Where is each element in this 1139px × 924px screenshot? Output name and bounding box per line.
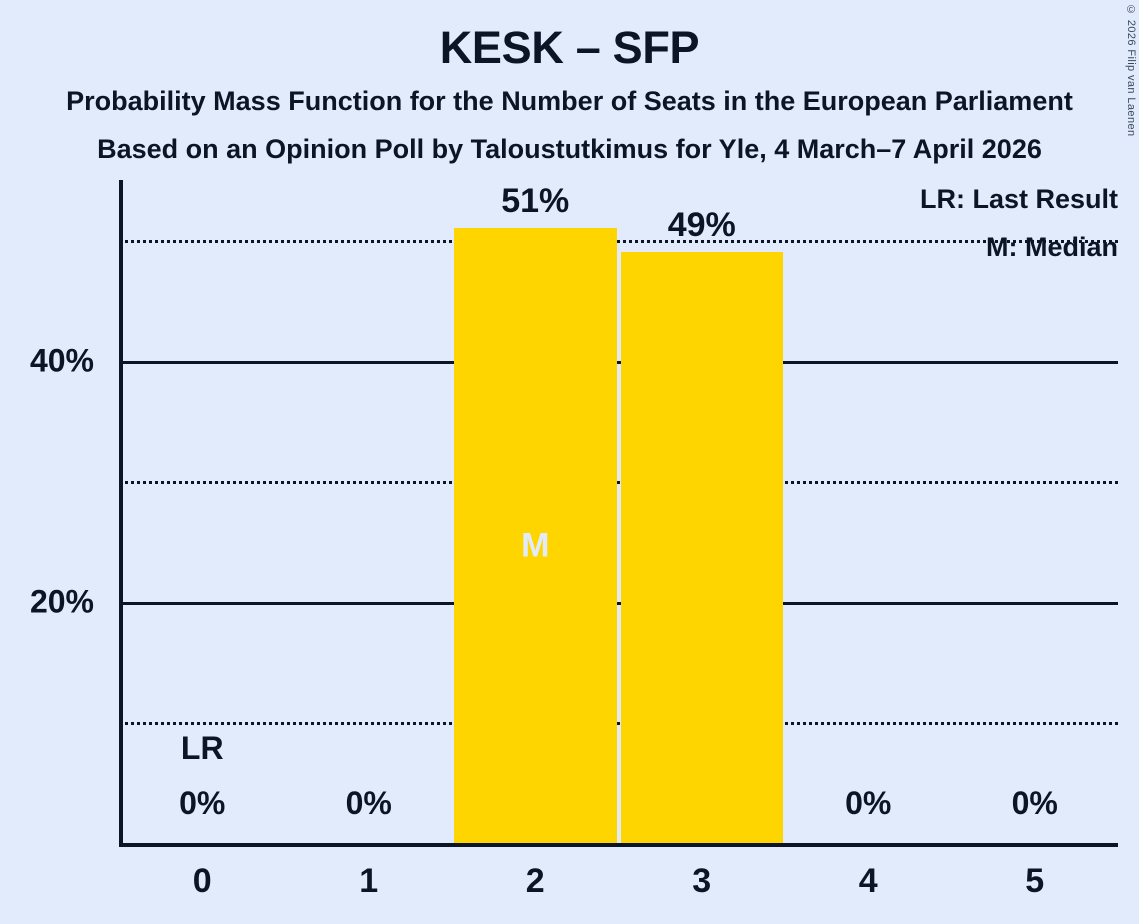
chart-subtitle-primary: Probability Mass Function for the Number… (0, 86, 1139, 117)
median-marker: M (521, 527, 549, 566)
gridline-30 (119, 481, 1118, 484)
x-axis-tick-5: 5 (1025, 862, 1044, 901)
y-axis-tick-label-20: 20% (30, 583, 94, 620)
gridline-20 (119, 602, 1118, 605)
last-result-marker: LR (181, 730, 224, 767)
x-axis-tick-1: 1 (359, 862, 378, 901)
bar-value-label-5: 0% (1012, 785, 1058, 822)
gridline-50 (119, 240, 1118, 243)
gridline-40 (119, 361, 1118, 364)
plot-area (119, 180, 1118, 847)
chart-canvas: KESK – SFP Probability Mass Function for… (0, 0, 1139, 924)
x-axis-tick-0: 0 (193, 862, 212, 901)
bar-value-label-2: 51% (501, 182, 569, 221)
x-axis-tick-3: 3 (692, 862, 711, 901)
x-axis-tick-2: 2 (526, 862, 545, 901)
bar-value-label-3: 49% (668, 206, 736, 245)
chart-subtitle-source: Based on an Opinion Poll by Taloustutkim… (0, 134, 1139, 165)
bar-seat-3[interactable] (621, 252, 784, 843)
gridline-10 (119, 722, 1118, 725)
copyright-notice: © 2026 Filip van Laenen (1125, 4, 1137, 137)
bar-value-label-4: 0% (845, 785, 891, 822)
y-axis-tick-label-40: 40% (30, 342, 94, 379)
bar-value-label-0: 0% (179, 785, 225, 822)
bar-value-label-1: 0% (346, 785, 392, 822)
x-axis-tick-4: 4 (859, 862, 878, 901)
page-title: KESK – SFP (0, 22, 1139, 74)
y-axis-labels: 20%40% (0, 180, 108, 847)
y-axis-line (119, 180, 123, 847)
x-axis-line (119, 843, 1118, 847)
